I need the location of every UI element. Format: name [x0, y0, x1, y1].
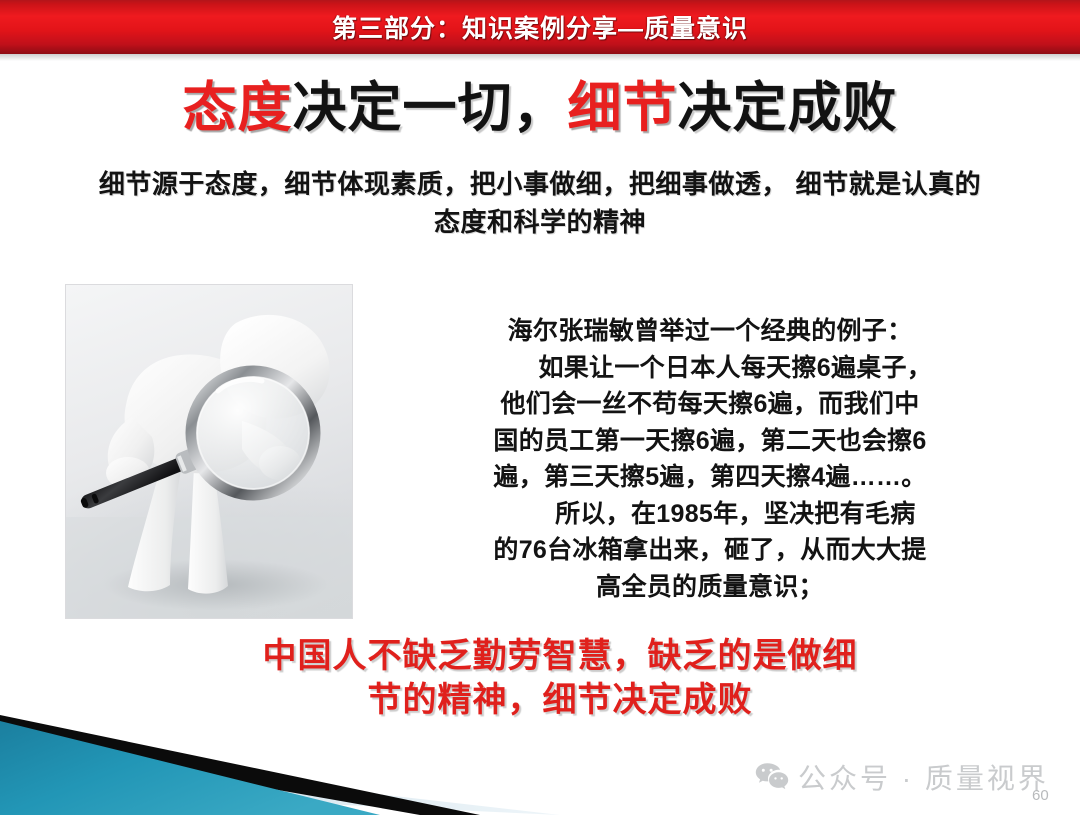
case-study-line: 如果让一个日本人每天擦6遍桌子，	[420, 350, 1000, 387]
page-number: 60	[1032, 787, 1049, 804]
case-study-paragraph: 海尔张瑞敏曾举过一个经典的例子： 如果让一个日本人每天擦6遍桌子， 他们会一丝不…	[420, 313, 1000, 605]
section-header-title: 第三部分：知识案例分享—质量意识	[0, 9, 1080, 45]
page-title-segment-decides-all: 决定一切，	[293, 78, 568, 138]
case-study-line: 海尔张瑞敏曾举过一个经典的例子：	[420, 313, 1000, 350]
case-study-line: 国的员工第一天擦6遍，第二天也会擦6	[420, 423, 1000, 460]
page-title-segment-detail: 细节	[568, 78, 678, 138]
page-subtitle-line-1: 细节源于态度，细节体现素质，把小事做细，把细事做透，	[99, 169, 788, 199]
case-study-line: 高全员的质量意识；	[420, 569, 1000, 606]
conclusion-line-2: 节的精神，细节决定成败	[160, 678, 960, 722]
illustration-magnifier-figure	[66, 285, 352, 618]
watermark: 公众号 · 质量视界	[755, 757, 1049, 797]
conclusion-text: 中国人不缺乏勤劳智慧，缺乏的是做细 节的精神，细节决定成败	[160, 634, 960, 722]
wechat-icon	[755, 762, 789, 792]
case-study-line: 所以，在1985年，坚决把有毛病	[420, 496, 1000, 533]
watermark-text: 公众号 · 质量视界	[798, 757, 1049, 797]
page-title: 态度决定一切，细节决定成败	[0, 80, 1080, 137]
page-title-segment-attitude: 态度	[183, 78, 293, 138]
case-study-line: 遍，第三天擦5遍，第四天擦4遍……。	[420, 459, 1000, 496]
case-study-line: 的76台冰箱拿出来，砸了，从而大大提	[420, 532, 1000, 569]
conclusion-line-1: 中国人不缺乏勤劳智慧，缺乏的是做细	[160, 634, 960, 678]
page-title-segment-decides-success: 决定成败	[678, 78, 898, 138]
case-study-line: 他们会一丝不苟每天擦6遍，而我们中	[420, 386, 1000, 423]
page-subtitle: 细节源于态度，细节体现素质，把小事做细，把细事做透， 细节就是认真的态度和科学的…	[90, 166, 990, 241]
slide-canvas: 第三部分：知识案例分享—质量意识 态度决定一切，细节决定成败 细节源于态度，细节…	[0, 0, 1080, 815]
